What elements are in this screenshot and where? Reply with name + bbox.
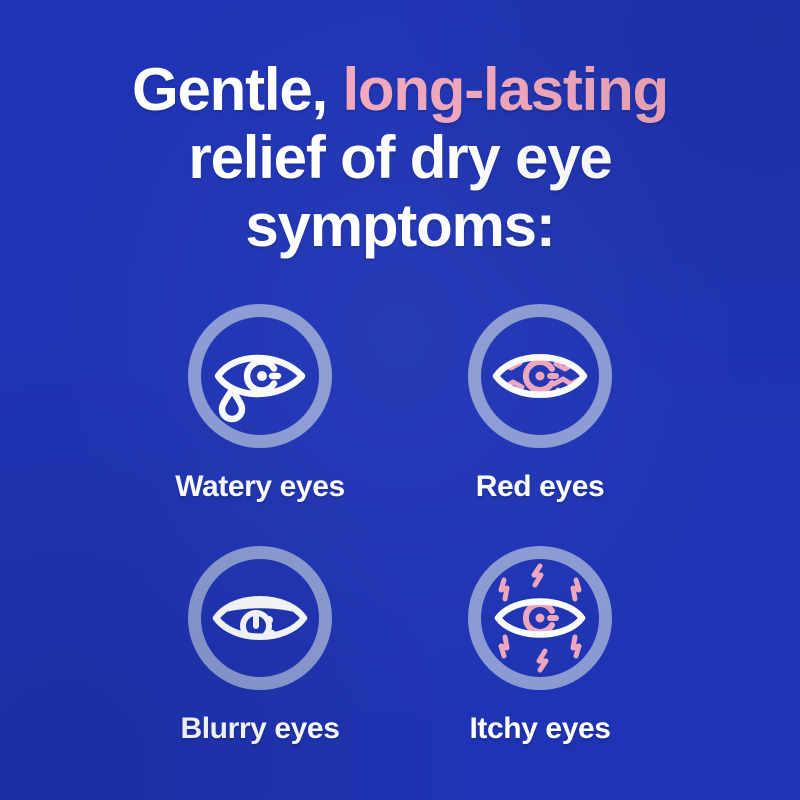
- headline-line-2: relief of dry eye: [50, 124, 750, 192]
- page-title: Gentle, long-lasting relief of dry eye s…: [50, 56, 750, 260]
- itchy-eye-icon: [482, 560, 598, 676]
- symptom-item-watery-eyes: Watery eyes: [120, 304, 400, 504]
- bolt-top-right: [573, 580, 579, 599]
- symptom-item-blurry-eyes: Blurry eyes: [120, 546, 400, 746]
- dry-eye-symptoms-poster: Gentle, long-lasting relief of dry eye s…: [0, 0, 800, 800]
- bolt-top: [534, 566, 541, 585]
- symptom-icon-badge-itchy: [468, 546, 612, 690]
- symptom-label: Watery eyes: [175, 470, 345, 504]
- blurry-eye-icon: [206, 576, 314, 660]
- symptom-icon-badge-red: [468, 304, 612, 448]
- bolt-top-left: [501, 580, 507, 599]
- headline-line-1-prefix: Gentle,: [132, 56, 342, 123]
- symptom-label: Red eyes: [476, 470, 605, 504]
- blur-dot-1: [265, 616, 273, 624]
- watery-eye-icon: [206, 328, 314, 424]
- symptom-item-red-eyes: Red eyes: [400, 304, 680, 504]
- headline-accent-text: long-lasting: [342, 56, 668, 123]
- symptom-label: Itchy eyes: [469, 712, 610, 746]
- red-eye-pupil: [536, 372, 545, 381]
- headline-line-1: Gentle, long-lasting: [50, 56, 750, 124]
- symptom-icon-badge-watery: [188, 304, 332, 448]
- headline-line-3: symptoms:: [50, 192, 750, 260]
- bolt-bottom: [539, 651, 546, 670]
- symptom-grid: Watery eyes: [120, 304, 680, 746]
- itchy-eye-pupil: [536, 614, 545, 623]
- symptom-label: Blurry eyes: [180, 712, 339, 746]
- bolt-bottom-right: [573, 637, 579, 656]
- watery-eye-pupil: [257, 371, 267, 381]
- symptom-item-itchy-eyes: Itchy eyes: [400, 546, 680, 746]
- bolt-bottom-left: [501, 637, 507, 656]
- red-eye-icon: [486, 334, 594, 418]
- symptom-icon-badge-blurry: [188, 546, 332, 690]
